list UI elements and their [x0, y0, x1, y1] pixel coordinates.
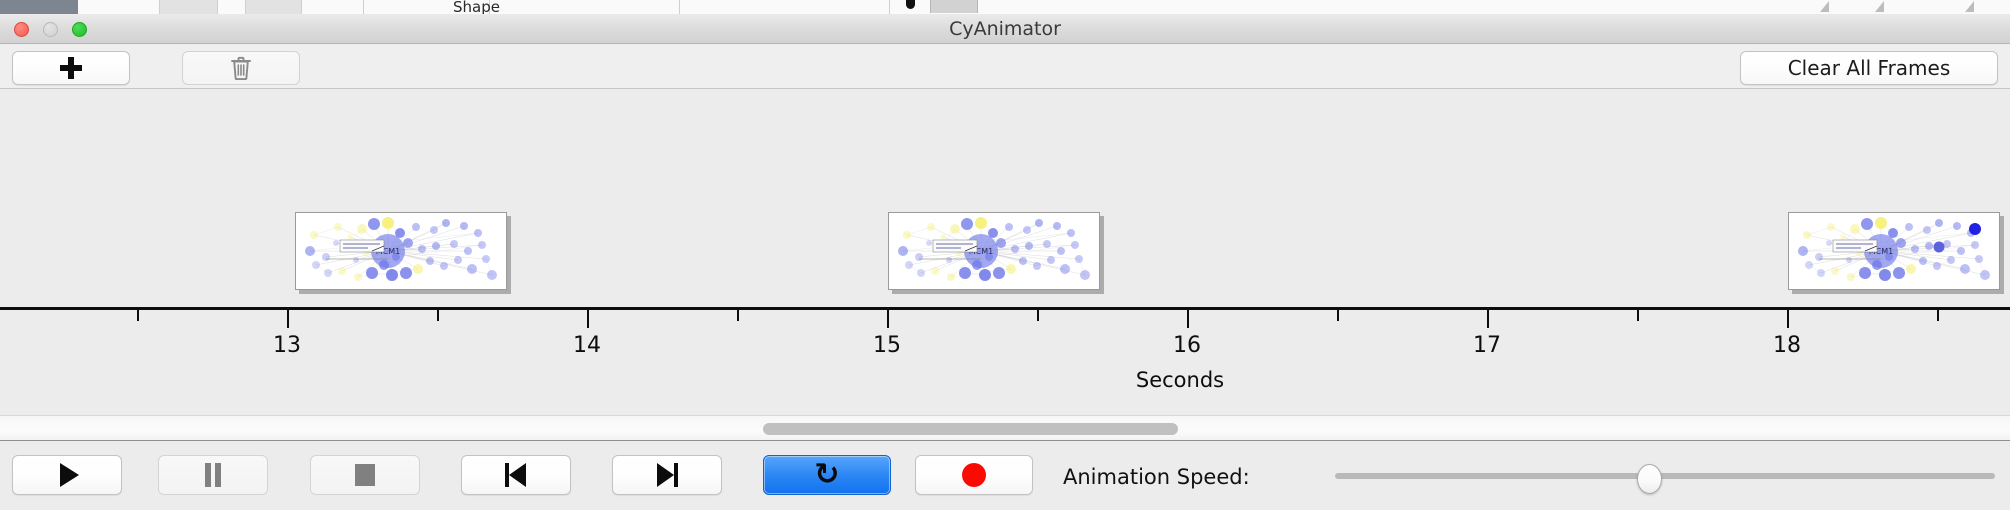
background-triangle [1820, 1, 1829, 12]
axis-tick-label: 18 [1773, 333, 1801, 358]
background-triangle [1965, 1, 1974, 12]
timeline-scrollbar-thumb[interactable] [763, 423, 1178, 435]
cyanimator-window: Shape CyAnimator Clear All Frames MCM1MC… [0, 0, 2010, 510]
background-triangle [1875, 1, 1884, 12]
background-cell [218, 0, 246, 14]
background-cell [302, 0, 364, 14]
skip-to-end-button[interactable] [612, 455, 722, 495]
axis-tick-label: 12 [0, 333, 1, 358]
stop-button[interactable] [310, 455, 420, 495]
stop-icon [355, 464, 375, 486]
title-bar: CyAnimator [0, 14, 2010, 44]
frame-thumbnail-2[interactable]: MCM1 [888, 212, 1100, 290]
skip-forward-icon [656, 463, 678, 487]
loop-icon: ↻ [814, 460, 839, 490]
loop-button[interactable]: ↻ [763, 455, 891, 495]
pause-icon [204, 463, 222, 487]
network-graph: MCM1 [1789, 213, 2000, 290]
axis-tick-minor [437, 310, 439, 321]
axis-tick-minor [1337, 310, 1339, 321]
timeline-axis-line [0, 307, 2010, 310]
network-graph: MCM1 [889, 213, 1100, 290]
background-cell [78, 0, 160, 14]
background-cell [160, 0, 218, 14]
plus-icon [60, 57, 82, 79]
play-icon [60, 463, 79, 487]
axis-tick-major [287, 310, 289, 328]
delete-frame-button[interactable] [182, 51, 300, 85]
axis-tick-label: 17 [1473, 333, 1501, 358]
window-title: CyAnimator [0, 14, 2010, 44]
background-marker [906, 0, 915, 9]
axis-tick-minor [1637, 310, 1639, 321]
timeline-scrollbar[interactable] [0, 415, 2010, 441]
skip-to-start-button[interactable] [461, 455, 571, 495]
background-cell [890, 0, 2010, 14]
axis-tick-major [887, 310, 889, 328]
axis-tick-major [1787, 310, 1789, 328]
background-graybox [930, 0, 978, 13]
network-graph: MCM1 [296, 213, 507, 290]
axis-tick-major [587, 310, 589, 328]
background-ghost-label: Shape [453, 0, 500, 14]
skip-back-icon [505, 463, 527, 487]
play-button[interactable] [12, 455, 122, 495]
background-cell [246, 0, 302, 14]
axis-tick-label: 15 [873, 333, 901, 358]
axis-tick-minor [137, 310, 139, 321]
animation-speed-label: Animation Speed: [1063, 465, 1250, 489]
axis-tick-major [1187, 310, 1189, 328]
axis-tick-label: 13 [273, 333, 301, 358]
clear-all-frames-button[interactable]: Clear All Frames [1740, 51, 1998, 85]
add-frame-button[interactable] [12, 51, 130, 85]
pause-button[interactable] [158, 455, 268, 495]
axis-tick-major [1487, 310, 1489, 328]
animation-speed-slider[interactable] [1335, 473, 1995, 479]
frame-thumbnail-3[interactable]: MCM1 [1788, 212, 2000, 290]
record-icon [962, 463, 986, 487]
axis-tick-minor [1037, 310, 1039, 321]
frame-thumbnail-1[interactable]: MCM1 [295, 212, 507, 290]
record-button[interactable] [915, 455, 1033, 495]
background-window-strip: Shape [0, 0, 2010, 14]
axis-tick-label: 16 [1173, 333, 1201, 358]
background-dark-tab [0, 0, 78, 14]
timeline-axis-title: Seconds [1136, 368, 1224, 392]
trash-icon [229, 55, 253, 81]
playback-toolbar: ↻ Animation Speed: [0, 443, 2010, 510]
background-cell [680, 0, 890, 14]
background-cell [490, 0, 680, 14]
axis-tick-minor [1937, 310, 1939, 321]
frames-toolbar: Clear All Frames [0, 45, 2010, 89]
axis-tick-minor [737, 310, 739, 321]
axis-tick-label: 14 [573, 333, 601, 358]
timeline-panel[interactable]: MCM1MCM1MCM1 12131415161718 Seconds [0, 90, 2010, 415]
animation-speed-slider-thumb[interactable] [1637, 464, 1662, 494]
